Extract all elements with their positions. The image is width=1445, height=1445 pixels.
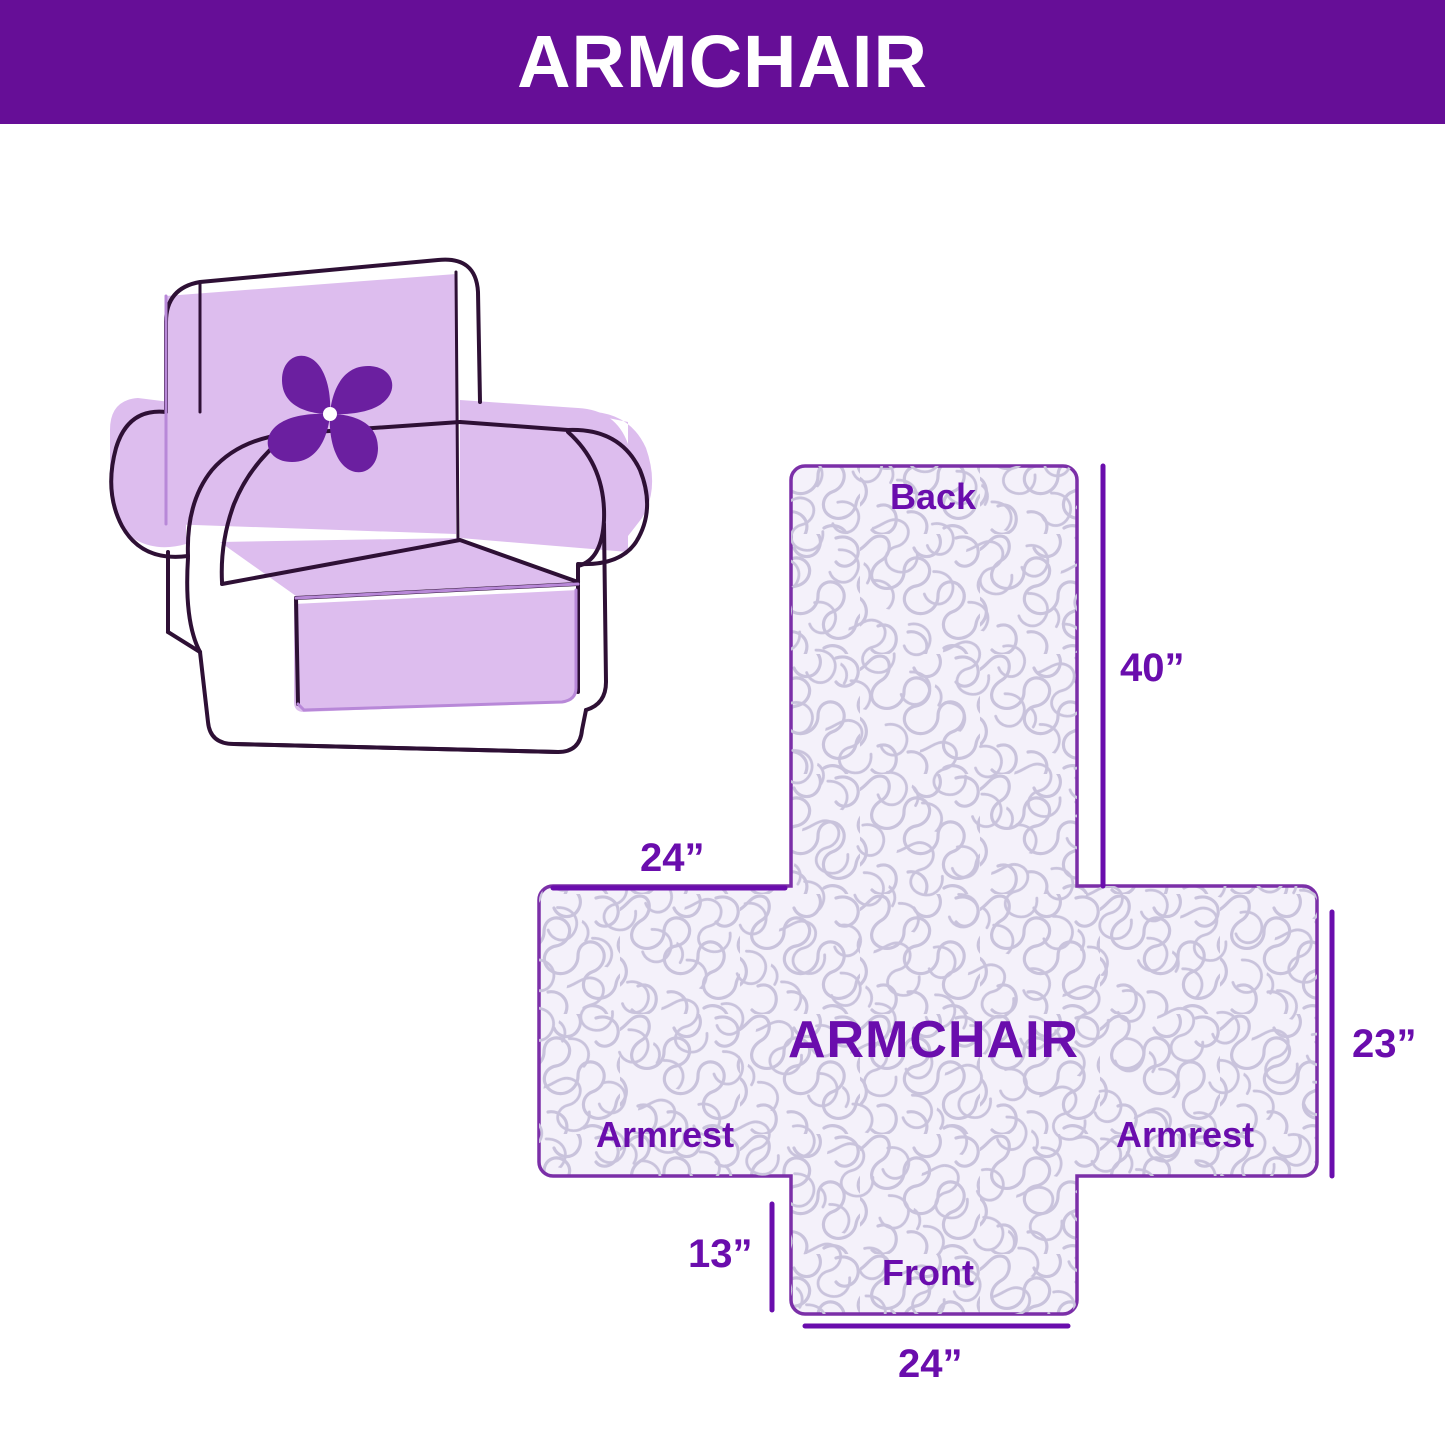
dimension-label-back-height: 40” (1120, 646, 1185, 691)
dimension-label-body-height: 23” (1352, 1022, 1417, 1067)
label-front: Front (882, 1252, 974, 1294)
label-armrest-left: Armrest (596, 1114, 734, 1156)
slipcover-cross-diagram: Back 40” 24” ARMCHAIR 23” Armrest Armres… (500, 414, 1445, 1424)
diagram-canvas: Back 40” 24” ARMCHAIR 23” Armrest Armres… (0, 124, 1445, 1445)
dimension-label-front-width: 24” (898, 1342, 963, 1387)
header-banner: ARMCHAIR (0, 0, 1445, 124)
dimension-label-front-height: 13” (688, 1232, 753, 1277)
label-armrest-right: Armrest (1116, 1114, 1254, 1156)
label-armchair-center: ARMCHAIR (788, 1010, 1079, 1070)
label-back: Back (890, 476, 976, 518)
dimension-label-back-width: 24” (640, 836, 705, 881)
page-title: ARMCHAIR (517, 25, 928, 99)
